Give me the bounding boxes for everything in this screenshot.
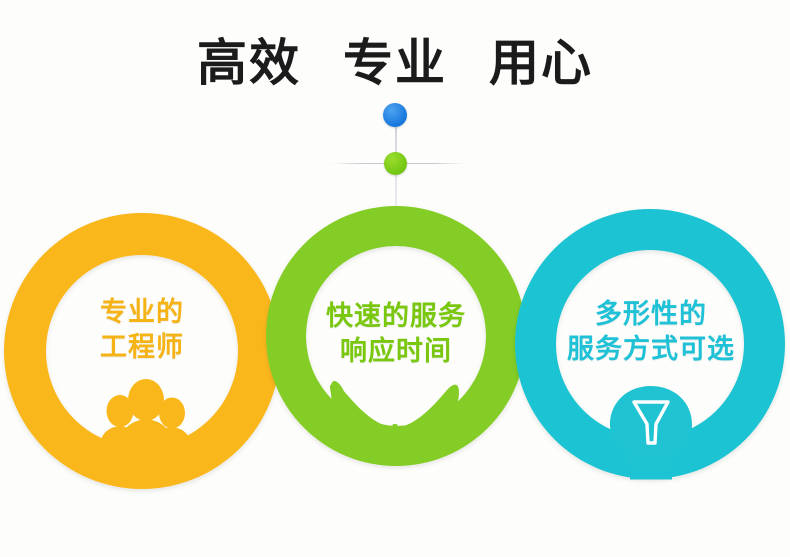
circle-text-professional-engineers: 专业的 工程师	[52, 296, 232, 365]
infographic-canvas: 高效专业用心	[0, 0, 790, 557]
circle-2-line-1: 快速的服务	[296, 300, 496, 335]
circle-1-line-1: 专业的	[52, 296, 232, 331]
circle-1-line-2: 工程师	[52, 331, 232, 366]
venn-rings-group	[0, 0, 790, 557]
circle-text-fast-response: 快速的服务 响应时间	[296, 300, 496, 369]
circle-3-line-2: 服务方式可选	[536, 333, 766, 368]
circle-3-line-1: 多形性的	[536, 298, 766, 333]
circle-2-line-2: 响应时间	[296, 335, 496, 370]
circle-text-flexible-service: 多形性的 服务方式可选	[536, 298, 766, 367]
